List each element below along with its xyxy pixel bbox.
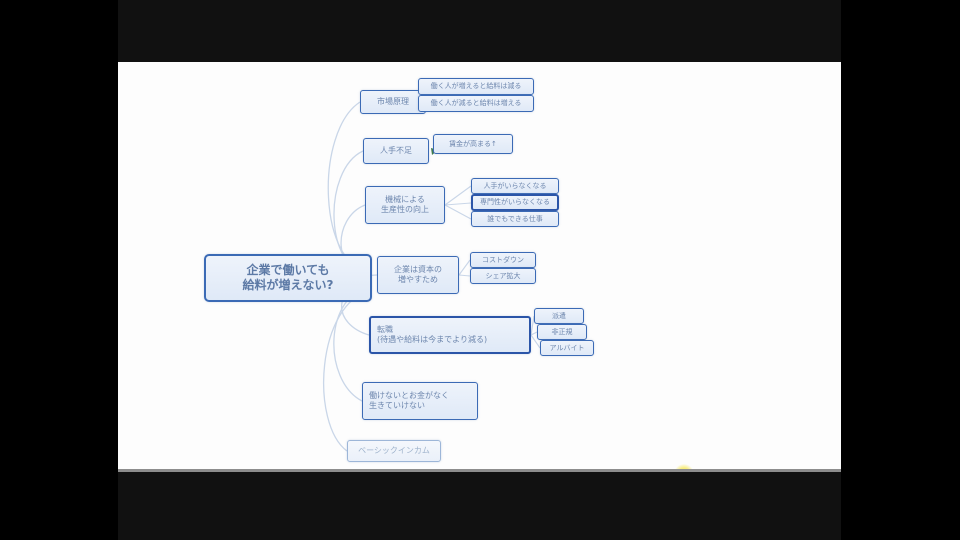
node-label: 専門性がいらなくなる: [480, 198, 550, 207]
node-more-workers-lower-pay[interactable]: 働く人が増えると給料は減る: [418, 78, 534, 95]
node-label-line-1: 転職: [377, 325, 487, 335]
node-basic-income[interactable]: ベーシックインカム: [347, 440, 441, 462]
slide-canvas[interactable]: 企業で働いても 給料が増えない? 市場原理 働く人が増えると給料は減る 働く人が…: [118, 62, 841, 469]
node-cost-down[interactable]: コストダウン: [470, 252, 536, 268]
root-line-1: 企業で働いても: [243, 263, 334, 278]
node-label-line-2: 生きていけない: [369, 401, 449, 411]
node-market-principle[interactable]: 市場原理: [360, 90, 426, 114]
node-anyone-can-do-job[interactable]: 誰でもできる仕事: [471, 211, 559, 227]
node-label: アルバイト: [550, 344, 585, 353]
node-no-expertise-needed[interactable]: 専門性がいらなくなる: [471, 194, 559, 211]
mindmap-root-node[interactable]: 企業で働いても 給料が増えない?: [204, 254, 372, 302]
node-wages-rise[interactable]: 賃金が高まる↑: [433, 134, 513, 154]
node-labor-shortage[interactable]: 人手不足: [363, 138, 429, 164]
node-label-line-2: (待遇や給料は今までより減る): [377, 335, 487, 345]
letterbox-bottom: [118, 472, 841, 540]
node-company-increases-capital[interactable]: 企業は資本の 増やすため: [377, 256, 459, 294]
node-non-regular[interactable]: 非正規: [537, 324, 587, 340]
node-label-line-1: 働けないとお金がなく: [369, 391, 449, 401]
node-label: 派遣: [552, 312, 566, 321]
node-label: 市場原理: [377, 97, 409, 107]
node-label: コストダウン: [482, 256, 524, 265]
letterbox-left: [0, 0, 118, 540]
node-no-manpower-needed[interactable]: 人手がいらなくなる: [471, 178, 559, 194]
node-label: シェア拡大: [486, 272, 521, 281]
node-share-expansion[interactable]: シェア拡大: [470, 268, 536, 284]
screen: 企業で働いても 給料が増えない? 市場原理 働く人が増えると給料は減る 働く人が…: [0, 0, 960, 540]
node-label: 誰でもできる仕事: [487, 215, 543, 224]
node-dispatch-worker[interactable]: 派遣: [534, 308, 584, 324]
node-label-line-1: 企業は資本の: [394, 265, 442, 275]
root-line-2: 給料が増えない?: [243, 278, 334, 293]
node-job-change[interactable]: 転職 (待遇や給料は今までより減る): [369, 316, 531, 354]
node-label: 非正規: [552, 328, 573, 337]
node-cannot-live-without-money[interactable]: 働けないとお金がなく 生きていけない: [362, 382, 478, 420]
node-label-line-1: 機械による: [381, 195, 429, 205]
node-label-line-2: 生産性の向上: [381, 205, 429, 215]
node-label: ベーシックインカム: [358, 446, 430, 456]
node-part-time[interactable]: アルバイト: [540, 340, 594, 356]
canvas-bottom-edge: [118, 469, 841, 472]
node-label: 人手不足: [380, 146, 412, 156]
node-machine-productivity[interactable]: 機械による 生産性の向上: [365, 186, 445, 224]
node-fewer-workers-higher-pay[interactable]: 働く人が減ると給料は増える: [418, 95, 534, 112]
letterbox-right: [841, 0, 960, 540]
node-label: 人手がいらなくなる: [484, 182, 547, 191]
node-label: 働く人が減ると給料は増える: [431, 99, 522, 108]
node-label: 働く人が増えると給料は減る: [431, 82, 522, 91]
node-label-line-2: 増やすため: [394, 275, 442, 285]
letterbox-top: [118, 0, 841, 62]
node-label: 賃金が高まる↑: [449, 140, 497, 149]
